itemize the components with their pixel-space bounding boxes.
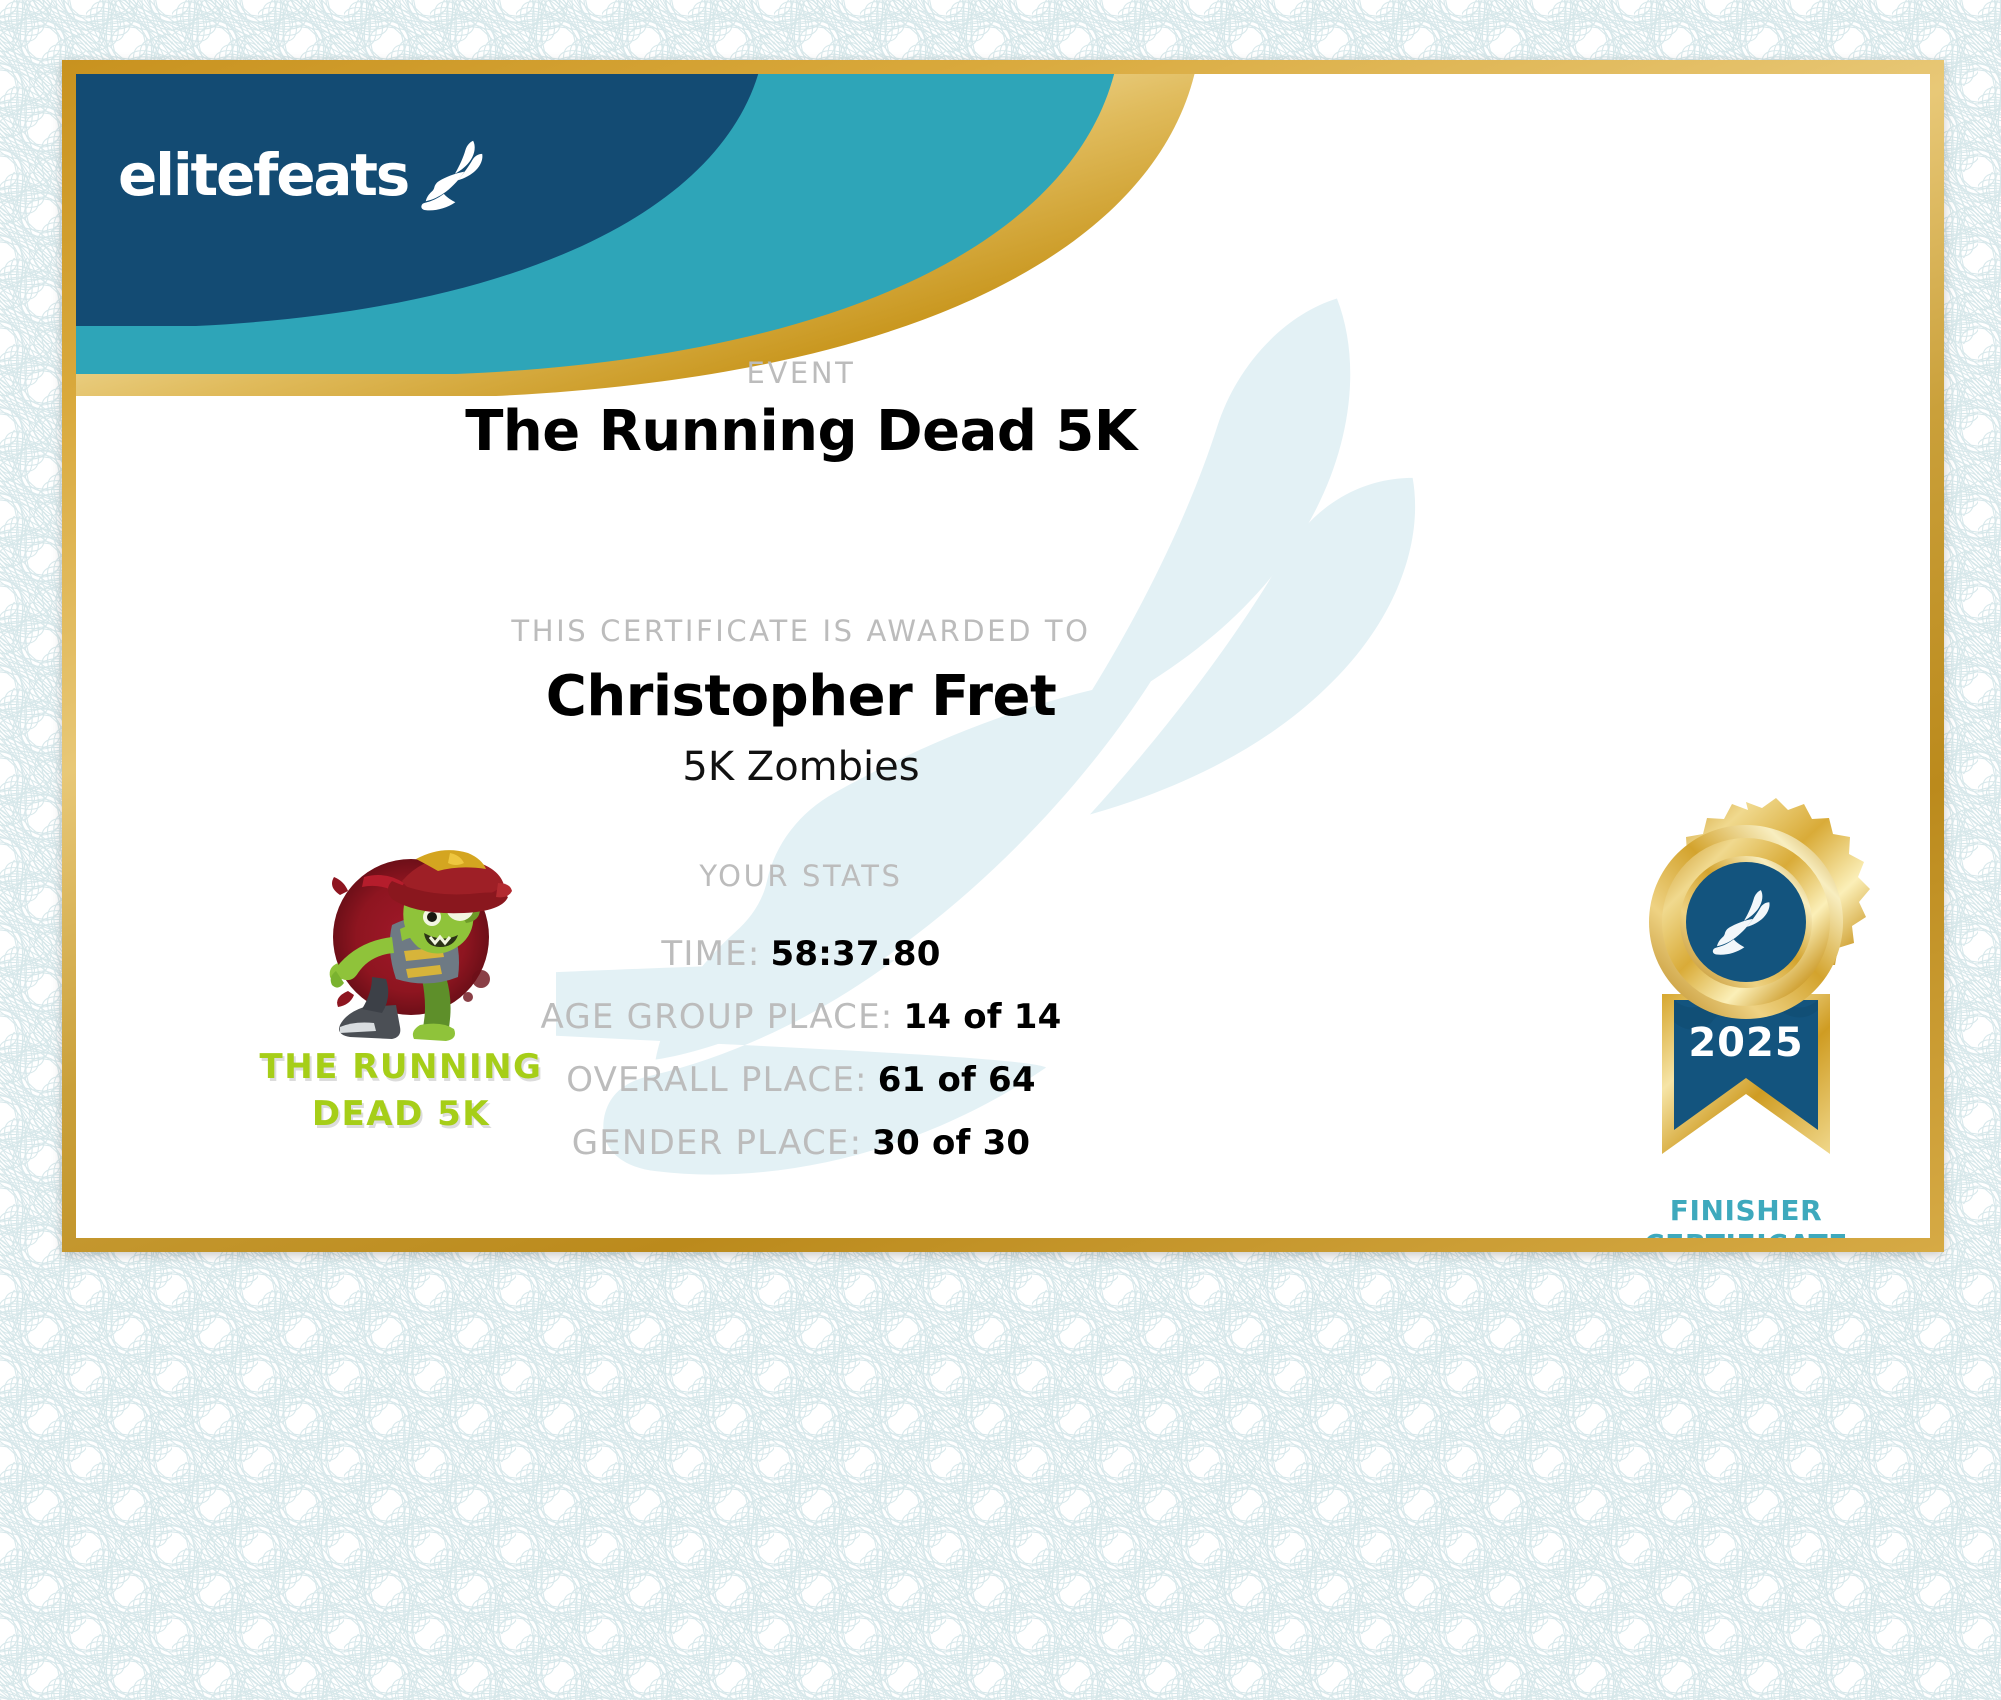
- stat-value: 14 of 14: [903, 997, 1061, 1037]
- medal-caption-line1: FINISHER: [1576, 1194, 1916, 1228]
- stat-label: TIME:: [661, 934, 760, 974]
- event-logo-title-line1: THE RUNNING: [236, 1044, 566, 1091]
- event-logo: THE RUNNING DEAD 5K: [236, 829, 566, 1159]
- medal-caption-line2: CERTIFICATE: [1576, 1228, 1916, 1238]
- medal-caption: FINISHER CERTIFICATE: [1576, 1194, 1916, 1238]
- event-logo-title-line2: DEAD 5K: [236, 1091, 566, 1138]
- stat-value: 58:37.80: [771, 934, 941, 974]
- recipient-category: 5K Zombies: [76, 744, 1526, 790]
- stat-label: AGE GROUP PLACE:: [540, 997, 893, 1037]
- winged-foot-icon: [414, 132, 500, 218]
- elitefeats-logo: elitefeats: [118, 132, 500, 218]
- finisher-medal: 2025: [1576, 794, 1916, 1238]
- event-label: EVENT: [76, 356, 1526, 390]
- medal-year: 2025: [1688, 1020, 1803, 1066]
- stat-label: OVERALL PLACE:: [566, 1060, 867, 1100]
- medal-graphic: 2025: [1576, 794, 1916, 1194]
- stat-value: 30 of 30: [872, 1123, 1030, 1163]
- recipient-name: Christopher Fret: [76, 664, 1526, 729]
- event-logo-title: THE RUNNING DEAD 5K: [236, 1044, 566, 1138]
- event-title: The Running Dead 5K: [76, 399, 1526, 464]
- brand-wordmark: elitefeats: [118, 141, 408, 209]
- stat-value: 61 of 64: [878, 1060, 1036, 1100]
- stat-label: GENDER PLACE:: [572, 1123, 863, 1163]
- certificate-gold-frame: elitefeats EVENT The Running Dead 5K THI…: [62, 60, 1944, 1252]
- certificate-body: elitefeats EVENT The Running Dead 5K THI…: [76, 74, 1930, 1238]
- certificate-page: elitefeats EVENT The Running Dead 5K THI…: [0, 0, 2001, 1700]
- zombie-runner-icon: [236, 829, 566, 1059]
- awarded-to-label: THIS CERTIFICATE IS AWARDED TO: [76, 614, 1526, 648]
